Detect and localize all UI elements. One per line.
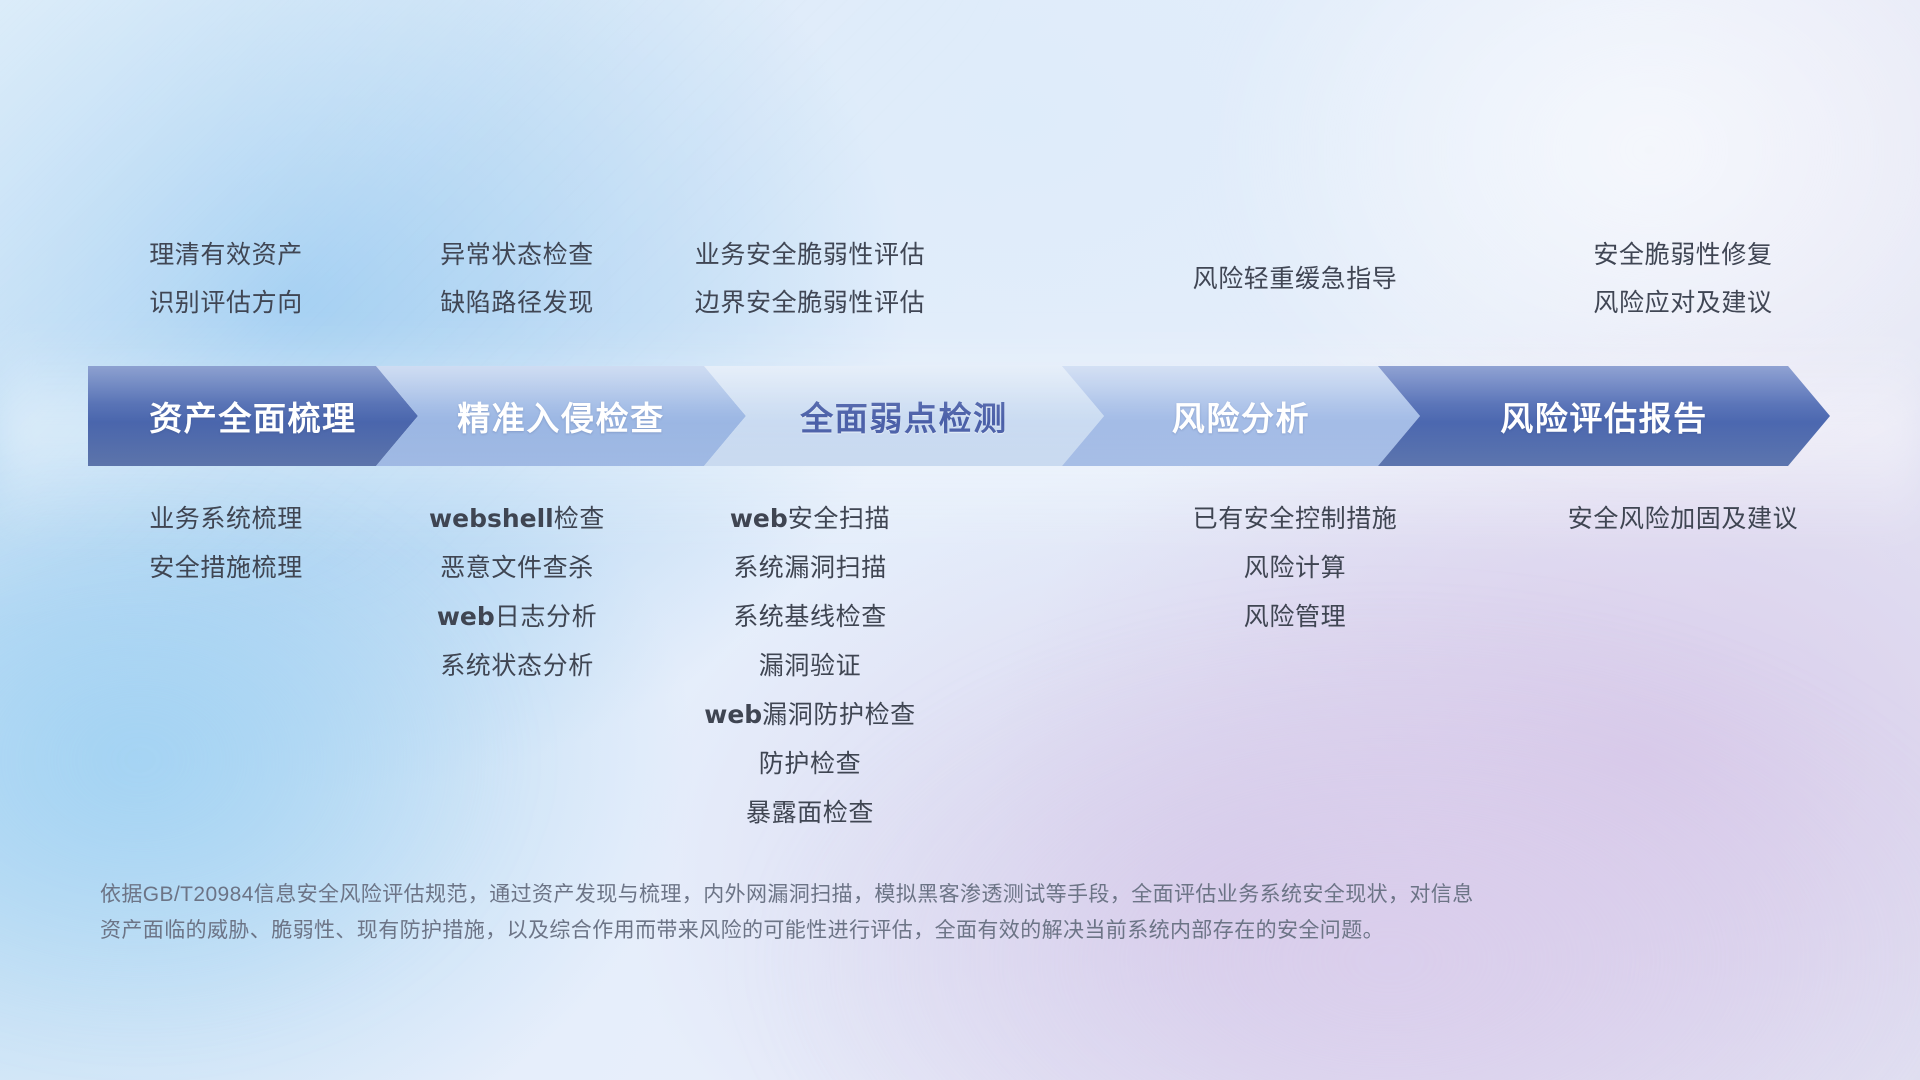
top-note: 边界安全脆弱性评估 [695, 286, 925, 320]
top-note: 缺陷路径发现 [440, 286, 594, 320]
list-item: 安全风险加固及建议 [1568, 500, 1798, 538]
top-note: 业务安全脆弱性评估 [695, 238, 925, 272]
list-item: 漏洞验证 [759, 647, 861, 685]
list-item: 恶意文件查杀 [440, 549, 594, 587]
list-item-text: 漏洞防护检查 [762, 701, 916, 729]
list-item: 系统基线检查 [733, 598, 887, 636]
stage-arrow-label: 全面弱点检测 [800, 392, 1008, 440]
top-note: 理清有效资产 [149, 238, 303, 272]
slide-content: 理清有效资产 识别评估方向 异常状态检查 缺陷路径发现 业务安全脆弱性评估 边界… [0, 0, 1920, 1080]
stage-arrow-label: 精准入侵检查 [457, 392, 665, 440]
top-note: 安全脆弱性修复 [1593, 238, 1772, 272]
stage-arrow-label: 风险评估报告 [1500, 392, 1708, 440]
list-item: web安全扫描 [730, 500, 890, 538]
list-item-latin: web [730, 504, 788, 533]
list-item-text: 安全风险加固及建议 [1568, 505, 1798, 533]
list-item-text: 已有安全控制措施 [1193, 505, 1398, 533]
list-item: 防护检查 [759, 745, 861, 783]
list-item: 已有安全控制措施 [1193, 500, 1398, 538]
footer-line-1: 依据GB/T20984信息安全风险评估规范，通过资产发现与梳理，内外网漏洞扫描，… [100, 877, 1740, 913]
item-list-asset-inventory: 业务系统梳理 安全措施梳理 [80, 500, 372, 587]
item-list-risk-report: 安全风险加固及建议 [1530, 500, 1836, 538]
stage-arrow-label: 风险分析 [1172, 392, 1310, 440]
list-item: 业务系统梳理 [149, 500, 303, 538]
top-note: 风险应对及建议 [1593, 286, 1772, 320]
list-item: 暴露面检查 [746, 794, 874, 832]
list-item-latin: web [704, 700, 762, 729]
list-item-latin: webshell [429, 504, 554, 533]
top-note: 异常状态检查 [440, 238, 594, 272]
footer-line-2: 资产面临的威胁、脆弱性、现有防护措施，以及综合作用而带来风险的可能性进行评估，全… [100, 913, 1740, 949]
list-item-text: 系统基线检查 [733, 603, 887, 631]
stage-arrow-asset-inventory[interactable]: 资产全面梳理 [88, 366, 418, 466]
top-notes-risk-report: 安全脆弱性修复 风险应对及建议 [1530, 238, 1836, 320]
process-arrow-band: 资产全面梳理 精准入侵检查 全面弱点检测 风险分析 风险评估报告 [0, 366, 1920, 466]
item-list-risk-analysis: 已有安全控制措施 风险计算 风险管理 [1172, 500, 1418, 636]
list-item-text: 暴露面检查 [746, 799, 874, 827]
top-notes-asset-inventory: 理清有效资产 识别评估方向 [80, 238, 372, 320]
top-notes-risk-analysis: 风险轻重缓急指导 [1172, 262, 1418, 296]
list-item-text: 安全措施梳理 [149, 554, 303, 582]
list-item-text: 业务系统梳理 [149, 505, 303, 533]
list-item-text: 漏洞验证 [759, 652, 861, 680]
list-item-text: 检查 [554, 505, 605, 533]
list-item: 系统状态分析 [440, 647, 594, 685]
stage-arrow-label: 资产全面梳理 [149, 392, 357, 440]
list-item-latin: web [437, 602, 495, 631]
item-list-intrusion-check: webshell检查 恶意文件查杀 web日志分析 系统状态分析 [372, 500, 662, 685]
footer-description: 依据GB/T20984信息安全风险评估规范，通过资产发现与梳理，内外网漏洞扫描，… [100, 877, 1740, 949]
list-item-text: 风险管理 [1244, 603, 1346, 631]
top-note: 识别评估方向 [149, 286, 303, 320]
top-note: 风险轻重缓急指导 [1193, 262, 1398, 296]
list-item: 安全措施梳理 [149, 549, 303, 587]
list-item-text: 防护检查 [759, 750, 861, 778]
list-item: web漏洞防护检查 [704, 696, 916, 734]
list-item-text: 日志分析 [495, 603, 597, 631]
stage-arrow-weakness-detection[interactable]: 全面弱点检测 [704, 366, 1104, 466]
stage-arrow-intrusion-check[interactable]: 精准入侵检查 [376, 366, 746, 466]
list-item: 风险管理 [1244, 598, 1346, 636]
list-item: 系统漏洞扫描 [733, 549, 887, 587]
list-item: web日志分析 [437, 598, 597, 636]
list-item-text: 系统漏洞扫描 [733, 554, 887, 582]
item-list-weakness-detection: web安全扫描 系统漏洞扫描 系统基线检查 漏洞验证 web漏洞防护检查 防护检… [662, 500, 958, 832]
stage-arrow-risk-report[interactable]: 风险评估报告 [1378, 366, 1830, 466]
list-item-text: 系统状态分析 [440, 652, 594, 680]
list-item-text: 安全扫描 [788, 505, 890, 533]
list-item-text: 风险计算 [1244, 554, 1346, 582]
slide-canvas: 理清有效资产 识别评估方向 异常状态检查 缺陷路径发现 业务安全脆弱性评估 边界… [0, 0, 1920, 1080]
list-item: webshell检查 [429, 500, 605, 538]
list-item: 风险计算 [1244, 549, 1346, 587]
top-notes-intrusion-check: 异常状态检查 缺陷路径发现 [372, 238, 662, 320]
top-notes-weakness-detection: 业务安全脆弱性评估 边界安全脆弱性评估 [662, 238, 958, 320]
stage-arrow-risk-analysis[interactable]: 风险分析 [1062, 366, 1420, 466]
list-item-text: 恶意文件查杀 [440, 554, 594, 582]
